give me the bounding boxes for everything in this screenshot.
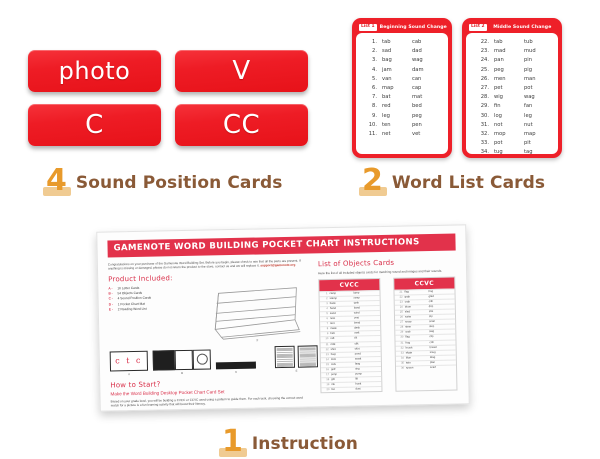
row-word-a: mop [494, 130, 524, 139]
row-index: 2 [320, 297, 330, 301]
row-word-a: snow [405, 320, 429, 325]
row-index: 35 [396, 361, 406, 365]
row-index: 27. [470, 84, 494, 93]
row-word-b: desk [354, 326, 378, 331]
word-list-card-2[interactable]: List 2 Middle Sound Change 22.tabtub23.m… [462, 18, 562, 158]
row-word-a: bat [382, 93, 412, 102]
row-word-a: crab [405, 300, 429, 305]
row-word-a: pot [494, 139, 524, 148]
row-index: 7. [360, 93, 382, 102]
row-word-b: mud [524, 47, 554, 56]
word-card-header: List 1 Beginning Sound Change [356, 22, 448, 33]
row-word-b: can [412, 75, 442, 84]
word-list-row: 8.redbed [360, 102, 444, 111]
word-list-row: 7.batmat [360, 93, 444, 102]
circle-shape [196, 354, 207, 365]
row-index: 5. [360, 75, 382, 84]
how-to-paragraph-1: Based on your grade level, you will be b… [111, 395, 311, 408]
row-word-b: cab [412, 38, 442, 47]
word-card-title: Middle Sound Change [490, 25, 555, 30]
row-word-b: peg [412, 112, 442, 121]
row-word-b: pin [524, 56, 554, 65]
caption-count: 2 [362, 167, 383, 194]
product-included-list: A -16 Letter CardsB -54 Objects CardsC -… [108, 285, 201, 346]
instruction-left-column: Congratulations on your purchase of the … [108, 258, 311, 411]
row-word-a: swim [405, 315, 429, 320]
row-index: 2. [360, 47, 382, 56]
word-list-row: 29.finfan [470, 102, 554, 111]
row-word-a: golf [331, 368, 355, 373]
row-word-a: spoon [406, 366, 430, 371]
row-index: 16 [321, 368, 331, 372]
row-word-b: cap [412, 84, 442, 93]
word-list-row: 27.petpot [470, 84, 554, 93]
row-index: 29 [395, 331, 405, 335]
row-word-b: wind [354, 311, 378, 316]
row-word-a: flag [405, 335, 429, 340]
instruction-sheet-group: GAMENOTE WORD BUILDING POCKET CHART INST… [98, 228, 478, 418]
row-word-a: ink [331, 383, 355, 388]
row-word-a: red [382, 102, 412, 111]
product-included-item: E -2 Reading Word List [109, 305, 201, 312]
row-word-a: tab [382, 38, 412, 47]
sound-card-c[interactable]: C [28, 104, 161, 146]
row-word-a: camp [329, 291, 353, 296]
row-word-a: net [382, 130, 412, 139]
objects-card-tables: CVCC 1camplamp2stampramp3banktank4handba… [318, 277, 458, 394]
product-overview-canvas: photo V C CC 4 Sound Position Cards List… [0, 0, 600, 450]
row-word-a: men [494, 75, 524, 84]
objects-table-row: 20listdust [321, 386, 381, 392]
row-word-b: man [524, 75, 554, 84]
row-word-a: bank [330, 301, 354, 306]
row-word-a: mad [494, 47, 524, 56]
word-list-row: 24.panpin [470, 56, 554, 65]
word-list-row: 6.mapcap [360, 84, 444, 93]
row-word-a: wig [494, 93, 524, 102]
row-index: 4 [320, 307, 330, 311]
mini-rows [299, 346, 317, 368]
row-word-a: van [382, 75, 412, 84]
row-word-b: drip [429, 304, 453, 309]
word-list-row: 26.menman [470, 75, 554, 84]
caption-text: Instruction [252, 436, 358, 455]
row-word-a: drum [405, 305, 429, 310]
row-word-a: belt [330, 332, 354, 337]
row-index: 19 [321, 383, 331, 387]
caption-text: Sound Position Cards [76, 175, 283, 194]
row-word-b: clip [429, 335, 453, 340]
row-word-a: raft [330, 337, 354, 342]
row-word-a: bag [382, 56, 412, 65]
row-word-b: frog [428, 289, 452, 294]
row-index: 31. [470, 121, 494, 130]
row-word-a: milk [331, 342, 355, 347]
row-word-a: leg [382, 112, 412, 121]
row-index: 26. [470, 75, 494, 84]
word-list-card-1[interactable]: List 1 Beginning Sound Change 1.tabcab2.… [352, 18, 452, 158]
thumb-objects-dark [153, 350, 175, 370]
word-card-badge: List 1 [359, 24, 377, 30]
row-word-b: pot [524, 84, 554, 93]
caption-text: Word List Cards [392, 175, 545, 194]
row-word-b: trip [429, 315, 453, 320]
row-word-a: ten [382, 121, 412, 130]
item-value: 2 Reading Word List [118, 307, 147, 313]
word-list-row: 11.netvet [360, 130, 444, 139]
row-word-a: twin [406, 361, 430, 366]
row-word-a: tent [330, 322, 354, 327]
row-index: 10. [360, 121, 382, 130]
row-word-a: gift [331, 378, 355, 383]
row-index: 31 [395, 341, 405, 345]
row-word-b: vet [412, 130, 442, 139]
caption-word-list-cards: 2 Word List Cards [362, 167, 545, 194]
row-index: 32. [470, 130, 494, 139]
row-word-b: pump [355, 372, 379, 377]
row-word-b: bread [430, 345, 454, 350]
thumb-word-list-1 [275, 346, 295, 368]
thumb-objects-card [175, 350, 193, 370]
row-word-b: bunk [355, 382, 379, 387]
objects-cards-subtext: Here the list of all included objects ca… [318, 268, 456, 275]
row-index: 15 [321, 363, 331, 367]
word-list-row: 1.tabcab [360, 38, 444, 47]
row-word-b: ramp [354, 296, 378, 301]
row-index: 14 [321, 358, 331, 362]
row-index: 4. [360, 66, 382, 75]
row-word-b: crib [429, 299, 453, 304]
row-word-b: mat [412, 93, 442, 102]
pocket-chart-illustration: F [206, 286, 303, 344]
thumb-sound-position-strip [216, 362, 256, 370]
row-word-b: silk [354, 342, 378, 347]
row-index: 34 [396, 356, 406, 360]
row-word-a: tab [494, 38, 524, 47]
row-word-b: mask [355, 357, 379, 362]
support-email[interactable]: support@gamenote.org [260, 263, 295, 268]
row-index: 30 [395, 336, 405, 340]
row-word-b: crib [429, 340, 453, 345]
ccvc-table: CCVC 21flagfrog22grabglad23crabcrib24dru… [393, 277, 457, 392]
row-word-b: dam [412, 66, 442, 75]
row-word-a: frog [405, 341, 429, 346]
row-word-a: flag [404, 290, 428, 295]
row-word-a: shirt [331, 347, 355, 352]
row-word-b: fang [355, 362, 379, 367]
row-word-b: tank [354, 301, 378, 306]
thumb-word-list-2 [298, 345, 318, 367]
row-word-a: mint [331, 357, 355, 362]
sound-card-label: photo [59, 59, 131, 83]
row-index: 23 [395, 300, 405, 304]
row-word-a: crab [405, 330, 429, 335]
row-index: 17 [321, 373, 331, 377]
row-word-b: snail [429, 320, 453, 325]
row-word-a: hand [330, 306, 354, 311]
instruction-sheet[interactable]: GAMENOTE WORD BUILDING POCKET CHART INST… [96, 224, 470, 411]
row-word-b: bend [354, 321, 378, 326]
row-word-b: step [429, 325, 453, 330]
row-index: 32 [396, 346, 406, 350]
word-list-row: 28.wigwag [470, 93, 554, 102]
row-index: 24 [395, 305, 405, 309]
word-list-row: 33.potpit [470, 139, 554, 148]
row-word-a: brush [406, 346, 430, 351]
row-word-b: plan [430, 360, 454, 365]
row-word-a: sad [382, 47, 412, 56]
row-word-a: harp [331, 352, 355, 357]
row-word-b: dust [355, 387, 379, 392]
row-word-a: blue [406, 356, 430, 361]
row-word-b: slot [429, 310, 453, 315]
row-word-a: peg [494, 66, 524, 75]
row-index: 7 [320, 322, 330, 326]
thumb-label: E [275, 368, 318, 373]
row-word-a: jam [382, 66, 412, 75]
row-index: 11. [360, 130, 382, 139]
row-word-b: dad [412, 47, 442, 56]
thumb-label: A [110, 372, 148, 377]
row-word-a: mask [330, 327, 354, 332]
word-list-row: 3.bagwag [360, 56, 444, 65]
row-word-a: cork [331, 362, 355, 367]
how-to-paragraph-2: These cards are recommended using one-to… [111, 407, 311, 411]
word-list-row: 22.tabtub [470, 38, 554, 47]
row-index: 9. [360, 112, 382, 121]
row-index: 28 [395, 326, 405, 330]
row-word-b: pig [524, 66, 554, 75]
word-list-row: 34.tugtag [470, 148, 554, 154]
row-word-b: vest [354, 316, 378, 321]
row-word-a: skate [406, 351, 430, 356]
row-index: 23. [470, 47, 494, 56]
row-word-b: fan [524, 102, 554, 111]
row-word-b: nut [524, 121, 554, 130]
row-index: 3. [360, 56, 382, 65]
caption-count: 1 [222, 428, 243, 455]
row-index: 1. [360, 38, 382, 47]
row-word-b: band [354, 306, 378, 311]
word-card-body: 1.tabcab2.saddad3.bagwag4.jamdam5.vancan… [356, 33, 448, 154]
svg-text:F: F [256, 338, 258, 342]
row-index: 8. [360, 102, 382, 111]
row-index: 28. [470, 93, 494, 102]
row-word-a: stamp [330, 296, 354, 301]
row-word-a: nest [330, 317, 354, 322]
row-index: 29. [470, 102, 494, 111]
sound-card-photo[interactable]: photo [28, 50, 161, 92]
row-index: 6. [360, 84, 382, 93]
thumb-label: C [216, 370, 256, 375]
sound-card-label: V [232, 58, 250, 84]
cvcc-table-body: 1camplamp2stampramp3banktank4handband5sa… [319, 290, 381, 393]
row-index: 34. [470, 148, 494, 154]
row-word-b: twig [429, 330, 453, 335]
row-word-a: sled [405, 310, 429, 315]
row-word-a: not [494, 121, 524, 130]
row-index: 22 [395, 295, 405, 299]
word-list-row: 2.saddad [360, 47, 444, 56]
caption-count: 4 [46, 167, 67, 194]
row-word-b: tub [524, 38, 554, 47]
component-thumbnails: c t c A B [110, 345, 311, 376]
row-word-b: lift [355, 377, 379, 382]
row-word-a: map [382, 84, 412, 93]
row-index: 8 [320, 327, 330, 331]
row-index: 27 [395, 321, 405, 325]
row-word-b: wag [412, 56, 442, 65]
word-list-row: 4.jamdam [360, 66, 444, 75]
word-list-row: 23.madmud [470, 47, 554, 56]
caption-instruction: 1 Instruction [222, 428, 358, 455]
row-index: 33 [396, 351, 406, 355]
row-index: 3 [320, 302, 330, 306]
row-word-a: pan [494, 56, 524, 65]
row-word-b: map [524, 130, 554, 139]
row-word-b: glad [429, 294, 453, 299]
word-list-cards-group: List 1 Beginning Sound Change 1.tabcab2.… [352, 18, 582, 158]
row-word-b: tag [524, 148, 554, 154]
row-word-b: wag [524, 93, 554, 102]
row-word-b: snug [430, 350, 454, 355]
word-card-badge: List 2 [469, 24, 487, 30]
row-word-a: tug [494, 148, 524, 154]
row-index: 25. [470, 66, 494, 75]
thumb-objects-circle [193, 349, 211, 369]
thumb-letter-cards: c t c [110, 351, 148, 372]
row-word-a: sand [330, 312, 354, 317]
row-word-b: tilt [354, 336, 378, 341]
row-index: 20 [321, 388, 331, 392]
row-index: 18 [321, 378, 331, 382]
objects-cards-heading: List of Objects Cards [318, 257, 456, 268]
row-index: 25 [395, 310, 405, 314]
word-list-row: 9.legpeg [360, 112, 444, 121]
row-word-a: list [331, 388, 355, 393]
row-index: 5 [320, 312, 330, 316]
mini-rows [276, 347, 294, 369]
row-word-b: scarf [430, 366, 454, 371]
word-card-title: Beginning Sound Change [380, 25, 447, 30]
cvcc-table: CVCC 1camplamp2stampramp3banktank4handba… [318, 278, 382, 393]
sound-card-cc[interactable]: CC [175, 104, 308, 146]
sound-card-label: CC [223, 112, 260, 138]
caption-sound-position-cards: 4 Sound Position Cards [46, 167, 282, 194]
row-word-b: lamp [353, 291, 377, 296]
row-index: 11 [321, 343, 331, 347]
word-list-row: 5.vancan [360, 75, 444, 84]
word-list-row: 30.logleg [470, 112, 554, 121]
row-index: 26 [395, 316, 405, 320]
row-word-a: fin [494, 102, 524, 111]
row-index: 22. [470, 38, 494, 47]
word-list-row: 10.tenpen [360, 121, 444, 130]
row-index: 6 [320, 317, 330, 321]
row-index: 30. [470, 112, 494, 121]
row-word-a: log [494, 112, 524, 121]
row-word-b: drag [430, 355, 454, 360]
row-index: 21 [394, 290, 404, 294]
row-word-b: pen [412, 121, 442, 130]
row-index: 36 [396, 367, 406, 371]
word-list-row: 32.mopmap [470, 130, 554, 139]
thumb-letters: c t c [115, 356, 142, 366]
row-word-b: ring [355, 367, 379, 372]
word-card-header: List 2 Middle Sound Change [466, 22, 558, 33]
row-index: 13 [321, 353, 331, 357]
row-word-b: melt [354, 331, 378, 336]
product-included-heading: Product Included: [108, 271, 308, 283]
thumb-label: B [153, 370, 211, 375]
sound-card-v[interactable]: V [175, 50, 308, 92]
row-index: 33. [470, 139, 494, 148]
row-word-a: stem [405, 325, 429, 330]
instruction-intro: Congratulations on your purchase of the … [108, 258, 308, 271]
row-word-b: skirt [355, 347, 379, 352]
instruction-sheet-title: GAMENOTE WORD BUILDING POCKET CHART INST… [107, 234, 455, 258]
instruction-right-column: List of Objects Cards Here the list of a… [318, 255, 459, 411]
row-index: 24. [470, 56, 494, 65]
row-index: 1 [319, 292, 329, 296]
row-word-a: grab [405, 295, 429, 300]
ccvc-table-body: 21flagfrog22grabglad23crabcrib24drumdrip… [394, 288, 456, 371]
row-word-b: leg [524, 112, 554, 121]
row-word-b: bed [412, 102, 442, 111]
word-list-row: 31.notnut [470, 121, 554, 130]
sound-card-label: C [85, 112, 104, 138]
row-word-b: pond [355, 352, 379, 357]
row-word-a: pet [494, 84, 524, 93]
row-word-a: jump [331, 373, 355, 378]
row-index: 10 [320, 337, 330, 341]
word-list-row: 25.pegpig [470, 66, 554, 75]
word-card-body: 22.tabtub23.madmud24.panpin25.pegpig26.m… [466, 33, 558, 154]
row-word-b: pit [524, 139, 554, 148]
sound-position-cards-group: photo V C CC [20, 48, 300, 158]
item-key: E - [109, 307, 115, 312]
row-index: 9 [320, 332, 330, 336]
row-index: 12 [321, 348, 331, 352]
